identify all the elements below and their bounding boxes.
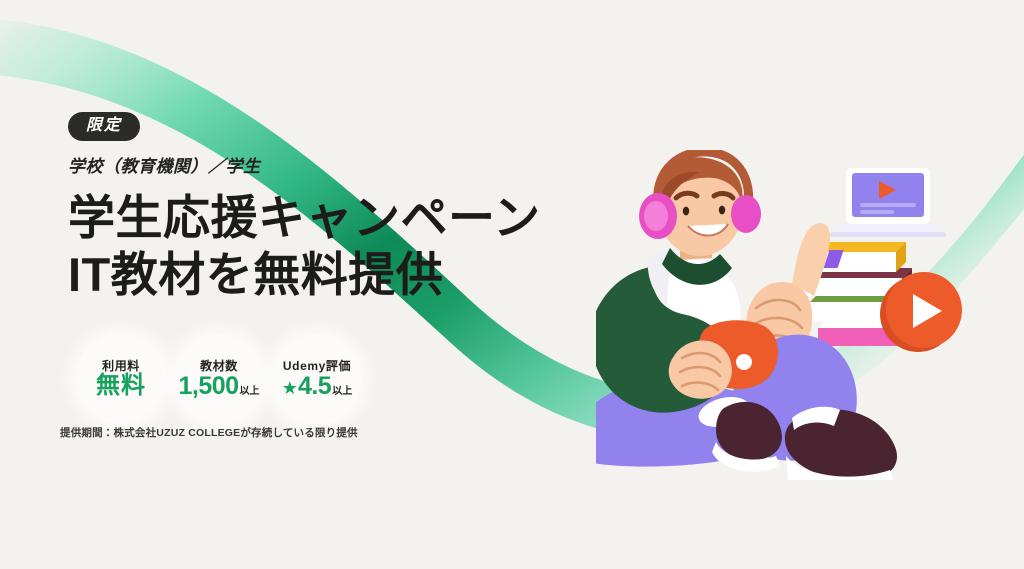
stat-course-count-value: 1,500 以上 xyxy=(178,374,259,399)
stat-udemy-rating: Udemy評価 ★ 4.5 以上 xyxy=(272,334,362,424)
availability-footnote: 提供期間：株式会社UZUZ COLLEGEが存続している限り提供 xyxy=(60,425,358,440)
stat-udemy-rating-suffix: 以上 xyxy=(332,387,352,397)
promo-banner: 限定 学校（教育機関）／学生 学生応援キャンペーン IT教材を無料提供 利用料 … xyxy=(0,0,1024,569)
star-icon: ★ xyxy=(282,379,298,397)
audience-eyebrow: 学校（教育機関）／学生 xyxy=(68,152,588,177)
stat-badges: 利用料 無料 教材数 1,500 以上 Udemy評価 ★ 4.5 以上 xyxy=(76,334,362,424)
stat-course-count: 教材数 1,500 以上 xyxy=(174,334,264,424)
stat-udemy-rating-label: Udemy評価 xyxy=(283,360,351,372)
stat-usage-fee-value: 無料 xyxy=(96,374,146,398)
headline-line-2: IT教材を無料提供 xyxy=(68,246,588,303)
stat-course-count-label: 教材数 xyxy=(200,360,238,372)
headline-line-1: 学生応援キャンペーン xyxy=(68,189,588,246)
stat-course-count-suffix: 以上 xyxy=(240,387,260,397)
stat-udemy-rating-number: 4.5 xyxy=(298,374,331,399)
stat-usage-fee: 利用料 無料 xyxy=(76,334,166,424)
page-title: 学生応援キャンペーン IT教材を無料提供 xyxy=(68,189,588,304)
limited-badge: 限定 xyxy=(68,112,140,141)
stat-usage-fee-label: 利用料 xyxy=(102,360,140,372)
laptop-icon xyxy=(830,168,946,237)
student-illustration xyxy=(596,150,996,480)
stat-course-count-number: 1,500 xyxy=(178,374,238,399)
stat-usage-fee-number: 無料 xyxy=(96,374,146,398)
banner-content: 限定 学校（教育機関）／学生 学生応援キャンペーン IT教材を無料提供 xyxy=(68,112,588,304)
stat-udemy-rating-value: ★ 4.5 以上 xyxy=(282,374,352,399)
